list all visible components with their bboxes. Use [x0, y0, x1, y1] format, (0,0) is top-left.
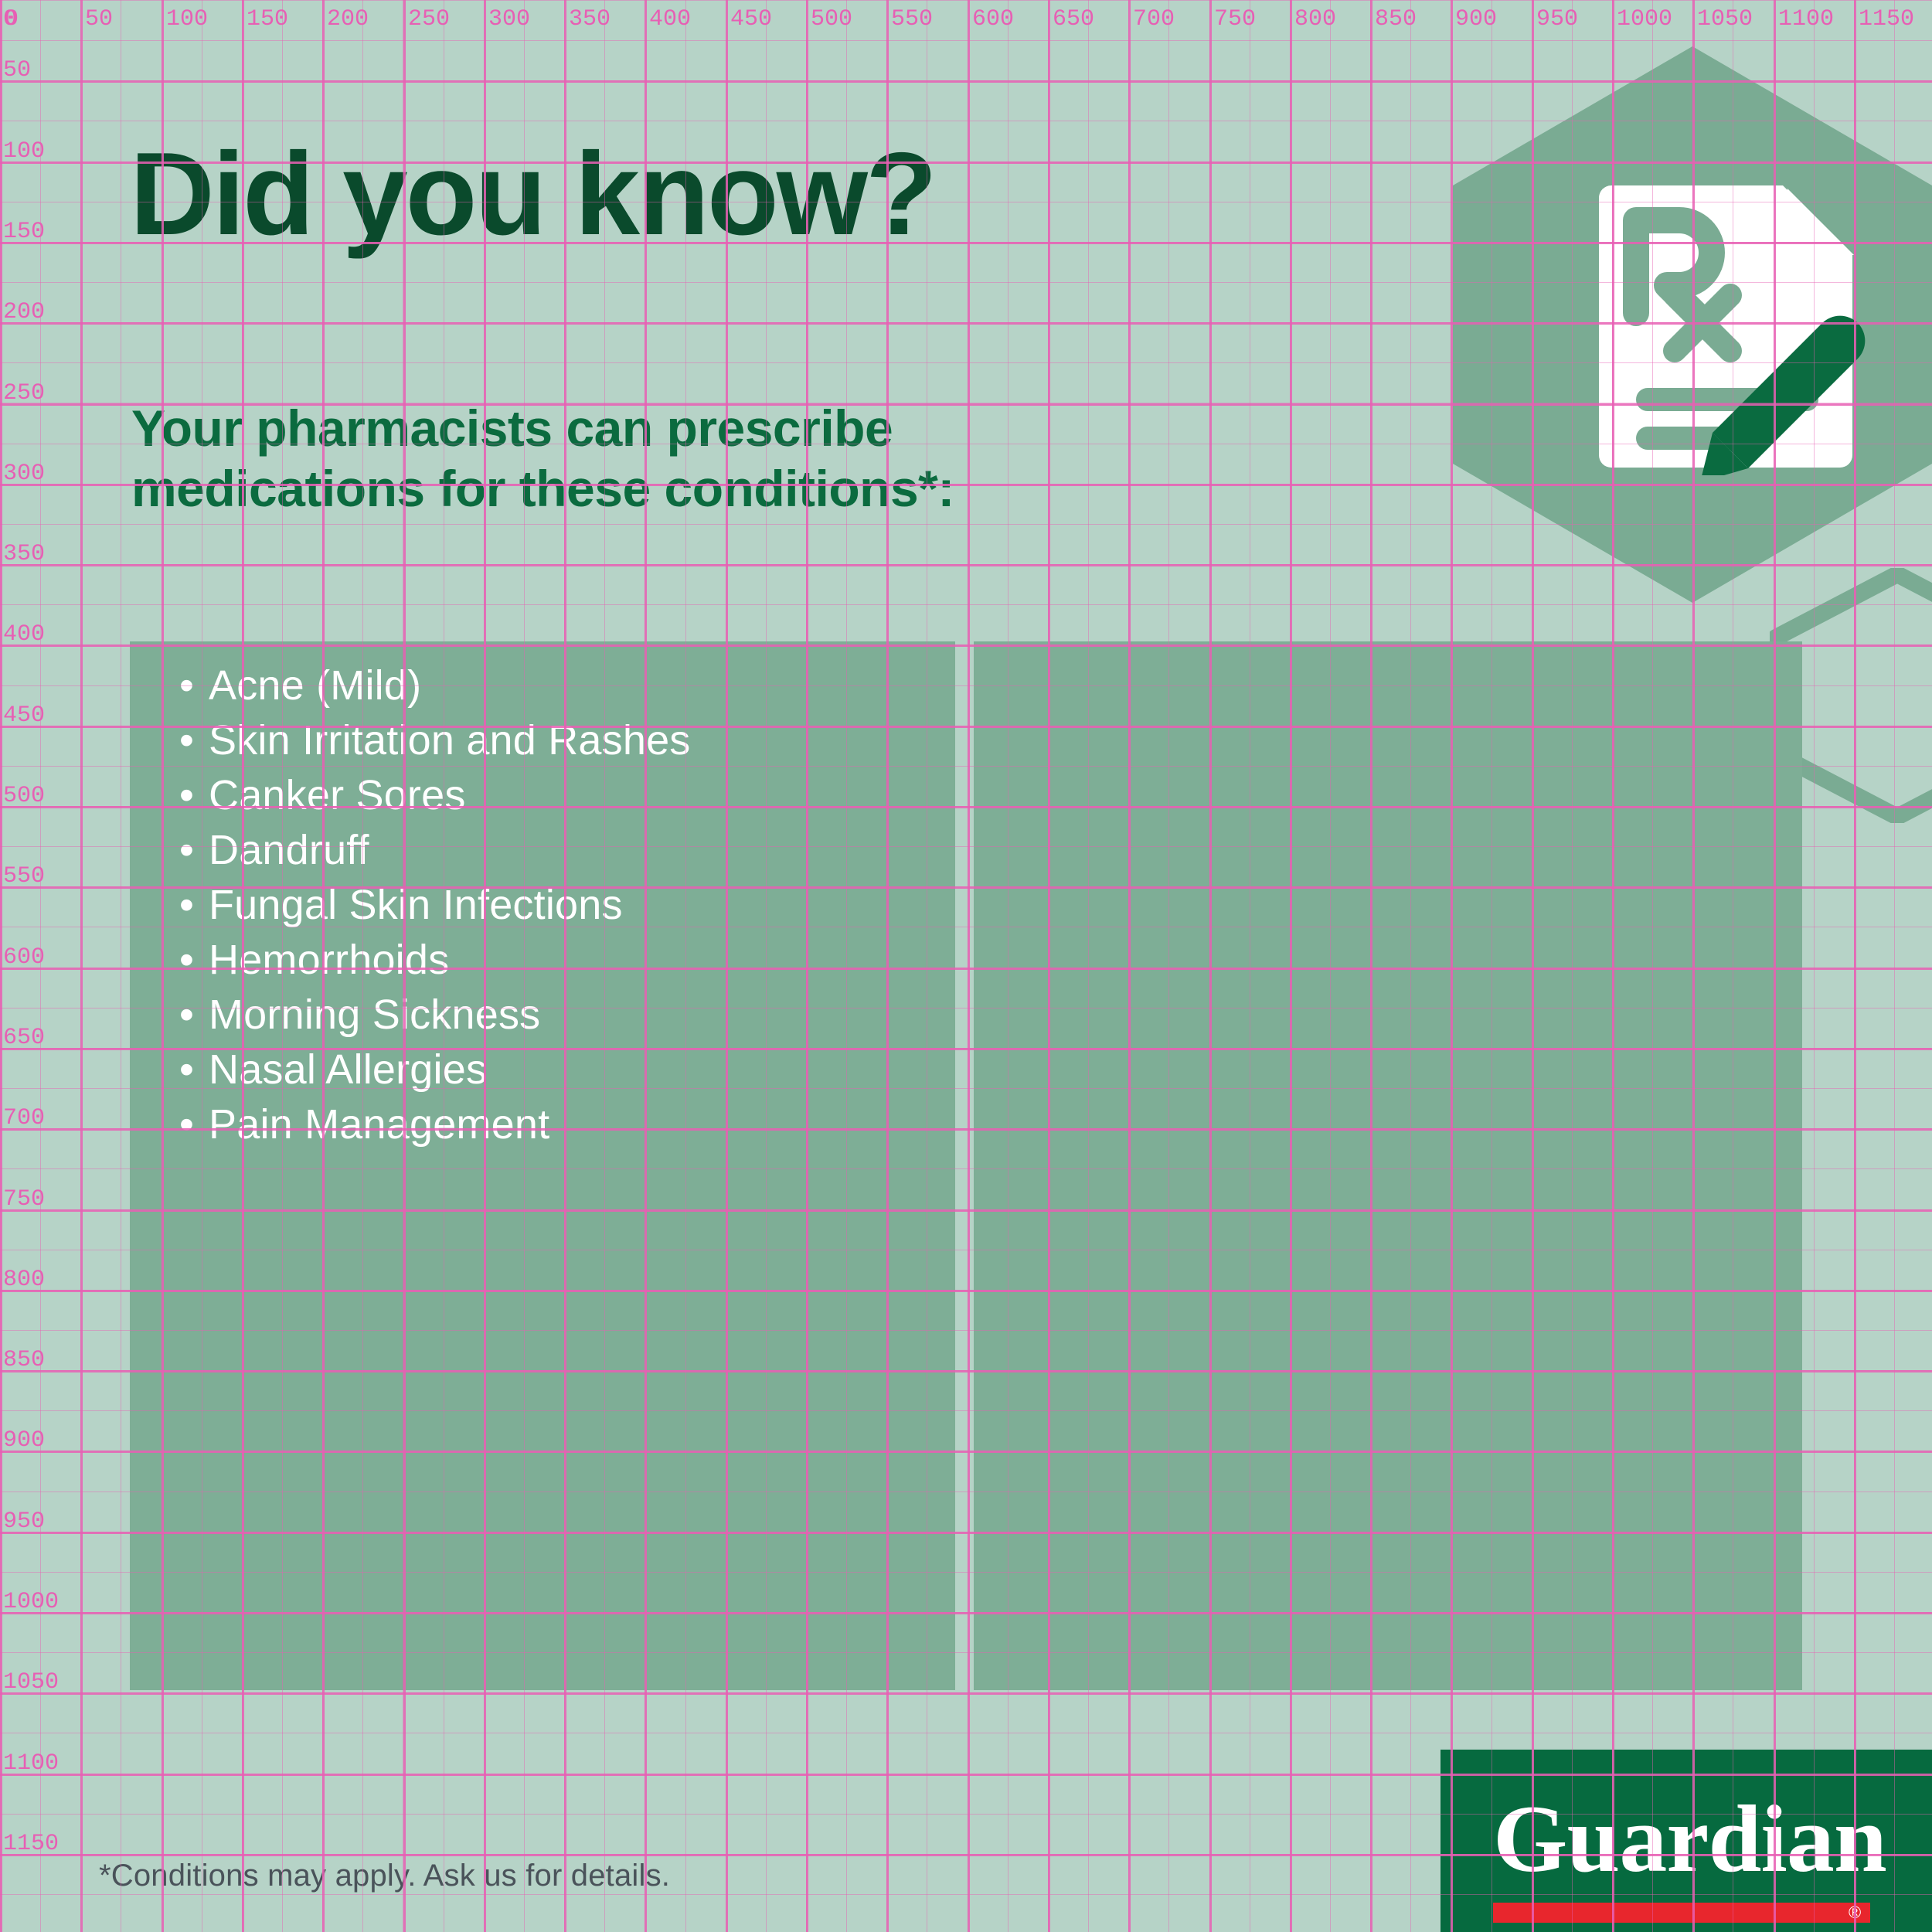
bullet-icon: •: [179, 768, 209, 823]
list-item-label: Canker Sores: [209, 772, 466, 818]
list-item-label: Nasal Allergies: [209, 1046, 487, 1093]
list-item-label: Skin Irritation and Rashes: [209, 717, 691, 764]
grid-label-x: 500: [811, 8, 852, 31]
list-item-label: Acne (Mild): [209, 662, 421, 709]
gridline-minor-horizontal: [0, 0, 1932, 1]
poster-canvas: Did you know? Your pharmacists can presc…: [0, 0, 1932, 1932]
footnote-disclaimer: *Conditions may apply. Ask us for detail…: [99, 1859, 670, 1893]
grid-label-x: 200: [327, 8, 369, 31]
grid-label-y: 100: [3, 140, 45, 163]
grid-label-x: 750: [1214, 8, 1256, 31]
page-subtitle: Your pharmacists can prescribe medicatio…: [131, 399, 954, 519]
grid-label-y: 800: [3, 1268, 45, 1291]
list-item-label: Morning Sickness: [209, 992, 540, 1038]
grid-label-y: 1000: [3, 1590, 59, 1614]
grid-label-x: 300: [488, 8, 530, 31]
bullet-icon: •: [179, 823, 209, 878]
grid-label-y: 1150: [3, 1832, 59, 1855]
grid-label-y: 850: [3, 1349, 45, 1372]
gridline-minor-vertical: [121, 0, 121, 1932]
logo-red-rule: [1493, 1903, 1870, 1923]
grid-label-x: 50: [85, 8, 113, 31]
grid-label-x: 900: [1455, 8, 1497, 31]
gridline-minor-vertical: [968, 0, 968, 1932]
grid-label-y: 600: [3, 946, 45, 969]
gridline-minor-vertical: [80, 0, 81, 1932]
grid-label-y: 300: [3, 462, 45, 485]
list-item: •Nasal Allergies: [179, 1043, 691, 1097]
list-item: •Canker Sores: [179, 768, 691, 823]
grid-label-x: 250: [408, 8, 450, 31]
bullet-icon: •: [179, 878, 209, 933]
grid-label-y: 150: [3, 220, 45, 243]
bullet-icon: •: [179, 1097, 209, 1152]
grid-label-y: 250: [3, 382, 45, 405]
grid-label-x: 700: [1133, 8, 1175, 31]
bullet-icon: •: [179, 988, 209, 1043]
grid-label-y: 50: [3, 59, 31, 82]
list-item: •Hemorrhoids: [179, 933, 691, 988]
bullet-icon: •: [179, 713, 209, 768]
list-item: •Dandruff: [179, 823, 691, 878]
list-item: •Skin Irritation and Rashes: [179, 713, 691, 768]
grid-label-x: 550: [891, 8, 933, 31]
grid-label-x: 1150: [1859, 8, 1914, 31]
list-item-label: Hemorrhoids: [209, 937, 449, 983]
grid-label-y: 350: [3, 543, 45, 566]
list-item: •Morning Sickness: [179, 988, 691, 1043]
grid-label-origin: 0: [3, 8, 17, 31]
grid-label-y: 200: [3, 301, 45, 324]
prescription-document-icon: [1588, 178, 1878, 475]
grid-label-x: 950: [1536, 8, 1578, 31]
bullet-icon: •: [179, 933, 209, 988]
content-panel-right: [974, 641, 1802, 1690]
guardian-logo: Guardian ®: [1440, 1750, 1932, 1932]
grid-label-y: 1050: [3, 1671, 59, 1694]
grid-label-x: 0: [5, 8, 19, 31]
registered-trademark-mark: ®: [1849, 1902, 1861, 1923]
page-title: Did you know?: [130, 135, 935, 253]
list-item-label: Pain Management: [209, 1101, 549, 1148]
gridline-minor-horizontal: [0, 604, 1932, 605]
grid-label-y: 500: [3, 784, 45, 808]
list-item: •Acne (Mild): [179, 658, 691, 713]
grid-label-x: 350: [569, 8, 611, 31]
grid-label-y: 400: [3, 623, 45, 646]
grid-label-x: 650: [1053, 8, 1094, 31]
list-item: •Pain Management: [179, 1097, 691, 1152]
bullet-icon: •: [179, 1043, 209, 1097]
gridline-minor-vertical: [0, 0, 1, 1932]
grid-label-x: 1100: [1778, 8, 1834, 31]
grid-label-y: 550: [3, 865, 45, 888]
grid-label-x: 600: [972, 8, 1014, 31]
list-item-label: Fungal Skin Infections: [209, 882, 623, 928]
gridline-minor-vertical: [40, 0, 41, 1932]
grid-label-x: 400: [649, 8, 691, 31]
grid-label-y: 650: [3, 1026, 45, 1049]
list-item: •Fungal Skin Infections: [179, 878, 691, 933]
grid-label-x: 850: [1375, 8, 1417, 31]
gridline-major-horizontal: [0, 1692, 1932, 1695]
list-item-label: Dandruff: [209, 827, 369, 873]
grid-label-x: 800: [1294, 8, 1336, 31]
gridline-major-vertical: [968, 0, 970, 1932]
grid-label-x: 1050: [1697, 8, 1753, 31]
grid-label-y: 950: [3, 1510, 45, 1533]
grid-label-y: 1100: [3, 1752, 59, 1775]
gridline-minor-horizontal: [0, 1692, 1932, 1693]
grid-label-y: 450: [3, 704, 45, 727]
grid-label-x: 1000: [1617, 8, 1672, 31]
gridline-major-vertical: [0, 0, 2, 1932]
grid-label-x: 100: [166, 8, 208, 31]
logo-wordmark: Guardian: [1493, 1791, 1886, 1887]
gridline-minor-horizontal: [0, 1733, 1932, 1733]
gridline-minor-horizontal: [0, 40, 1932, 41]
bullet-icon: •: [179, 658, 209, 713]
grid-label-x: 450: [730, 8, 772, 31]
grid-label-x: 150: [247, 8, 288, 31]
grid-label-y: 700: [3, 1107, 45, 1130]
gridline-major-vertical: [80, 0, 83, 1932]
grid-label-y: 900: [3, 1429, 45, 1452]
grid-label-y: 750: [3, 1188, 45, 1211]
conditions-list: •Acne (Mild)•Skin Irritation and Rashes•…: [179, 658, 691, 1152]
